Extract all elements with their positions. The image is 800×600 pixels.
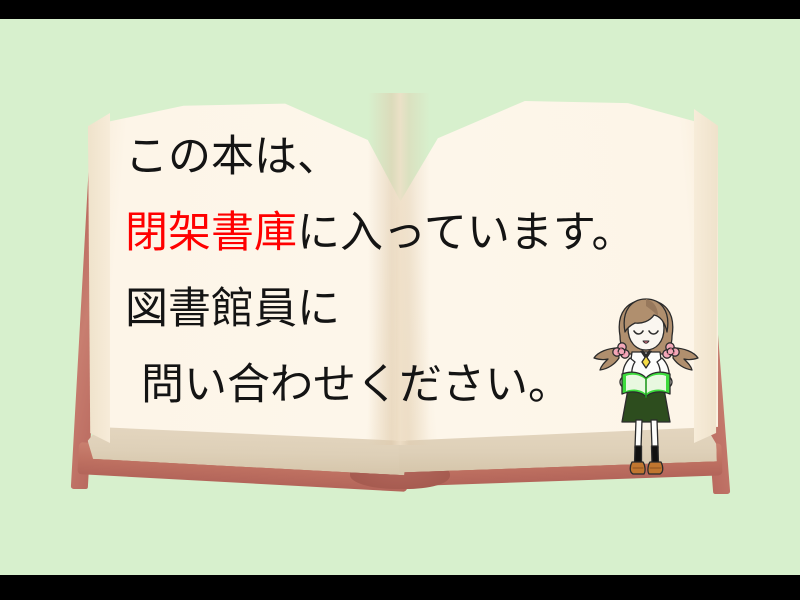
- notice-line-2: 閉架書庫に入っています。: [125, 195, 685, 271]
- sock-right: [652, 446, 659, 464]
- notice-line-2-rest: に入っています。: [297, 208, 635, 258]
- page-stack-left-edge: [88, 113, 110, 443]
- notice-line-1-text: この本は、: [125, 132, 340, 182]
- notice-line-3-text: 図書館員に: [125, 284, 340, 334]
- letterbox-top: [0, 0, 800, 19]
- notice-line-4-text: 問い合わせください。: [141, 360, 571, 410]
- slide-stage: この本は、 閉架書庫に入っています。 図書館員に 問い合わせください。: [0, 0, 800, 600]
- leg-right: [651, 420, 658, 448]
- leg-left: [635, 420, 642, 448]
- sock-left: [635, 446, 642, 464]
- notice-highlight-closed-stacks: 閉架書庫: [125, 208, 297, 258]
- slide-canvas: この本は、 閉架書庫に入っています。 図書館員に 問い合わせください。: [0, 19, 800, 575]
- notice-line-1: この本は、: [125, 119, 685, 195]
- letterbox-bottom: [0, 575, 800, 600]
- girl-reading-book-illustration: [592, 294, 700, 484]
